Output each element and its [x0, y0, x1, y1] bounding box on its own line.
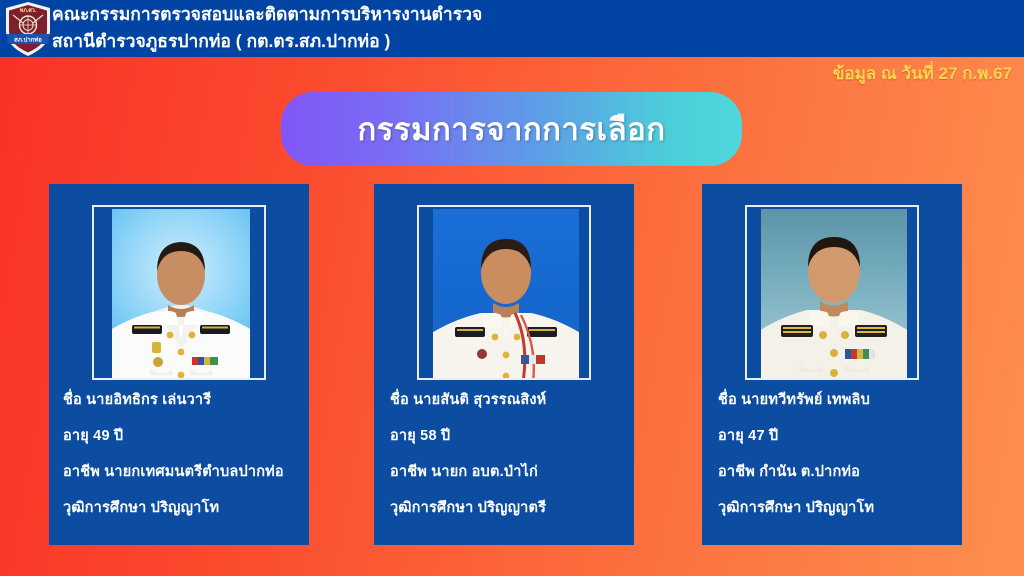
- photo-frame: [417, 205, 591, 380]
- portrait-photo-officer-3: [761, 209, 907, 380]
- card-info-lines: ชื่อ นายอิทธิกร เล่นวารี อายุ 49 ปี อาชี…: [63, 382, 303, 526]
- police-shield-badge-icon: ทภ.ศว. สภ.ปากท่อ: [3, 1, 53, 57]
- svg-text:ทภ.ศว.: ทภ.ศว.: [20, 7, 37, 14]
- data-as-of-date: ข้อมูล ณ วันที่ 27 ก.พ.67: [833, 60, 1012, 87]
- committee-card[interactable]: ชื่อ นายทวีทรัพย์ เทพลิบ อายุ 47 ปี อาชี…: [702, 184, 962, 545]
- header-line-1: คณะกรรมการตรวจสอบและติดตามการบริหารงานตำ…: [52, 1, 752, 28]
- member-occupation: อาชีพ นายกเทศมนตรีตำบลปากท่อ: [63, 454, 303, 490]
- member-age: อายุ 47 ปี: [718, 418, 958, 454]
- member-occupation: อาชีพ นายก อบต.ป่าไก่: [390, 454, 630, 490]
- member-name: ชื่อ นายสันติ สุวรรณสิงห์: [390, 382, 630, 418]
- member-name: ชื่อ นายทวีทรัพย์ เทพลิบ: [718, 382, 958, 418]
- header-bar: คณะกรรมการตรวจสอบและติดตามการบริหารงานตำ…: [0, 0, 1024, 57]
- member-name: ชื่อ นายอิทธิกร เล่นวารี: [63, 382, 303, 418]
- section-title-text: กรรมการจากการเลือก: [358, 104, 666, 154]
- member-age: อายุ 58 ปี: [390, 418, 630, 454]
- slide-canvas: คณะกรรมการตรวจสอบและติดตามการบริหารงานตำ…: [0, 0, 1024, 576]
- card-info-lines: ชื่อ นายสันติ สุวรรณสิงห์ อายุ 58 ปี อาช…: [390, 382, 630, 526]
- portrait-photo-officer-2: [433, 209, 579, 380]
- photo-frame: [745, 205, 919, 380]
- committee-card-list: ชื่อ นายอิทธิกร เล่นวารี อายุ 49 ปี อาชี…: [0, 184, 1024, 546]
- member-age: อายุ 49 ปี: [63, 418, 303, 454]
- member-occupation: อาชีพ กำนัน ต.ปากท่อ: [718, 454, 958, 490]
- member-education: วุฒิการศึกษา ปริญญาโท: [718, 490, 958, 526]
- svg-text:สภ.ปากท่อ: สภ.ปากท่อ: [14, 35, 42, 43]
- committee-card[interactable]: ชื่อ นายสันติ สุวรรณสิงห์ อายุ 58 ปี อาช…: [374, 184, 634, 545]
- member-education: วุฒิการศึกษา ปริญญาโท: [63, 490, 303, 526]
- committee-card[interactable]: ชื่อ นายอิทธิกร เล่นวารี อายุ 49 ปี อาชี…: [49, 184, 309, 545]
- header-line-2: สถานีตำรวจภูธรปากท่อ ( กต.ตร.สภ.ปากท่อ ): [52, 28, 752, 55]
- section-title-banner: กรรมการจากการเลือก: [281, 92, 742, 166]
- card-info-lines: ชื่อ นายทวีทรัพย์ เทพลิบ อายุ 47 ปี อาชี…: [718, 382, 958, 526]
- header-title-block: คณะกรรมการตรวจสอบและติดตามการบริหารงานตำ…: [52, 1, 752, 55]
- photo-frame: [92, 205, 266, 380]
- member-education: วุฒิการศึกษา ปริญญาตรี: [390, 490, 630, 526]
- portrait-photo-officer-1: [112, 209, 250, 380]
